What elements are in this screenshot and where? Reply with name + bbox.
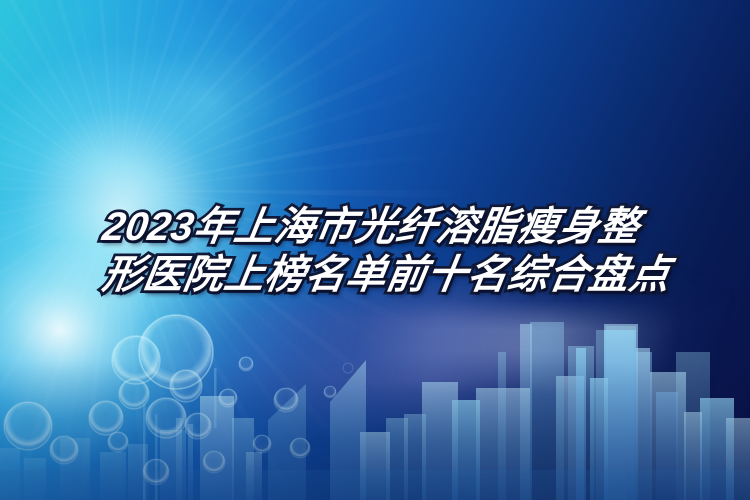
bubbles-group bbox=[4, 315, 353, 485]
headline-line-2: 形医院上榜名单前十名综合盘点 bbox=[99, 251, 687, 299]
banner-image: 2023年上海市光纤溶脂瘦身整 形医院上榜名单前十名综合盘点 bbox=[0, 0, 750, 500]
page-title: 2023年上海市光纤溶脂瘦身整 形医院上榜名单前十名综合盘点 bbox=[103, 203, 683, 299]
headline-line-1: 2023年上海市光纤溶脂瘦身整 bbox=[99, 203, 687, 251]
